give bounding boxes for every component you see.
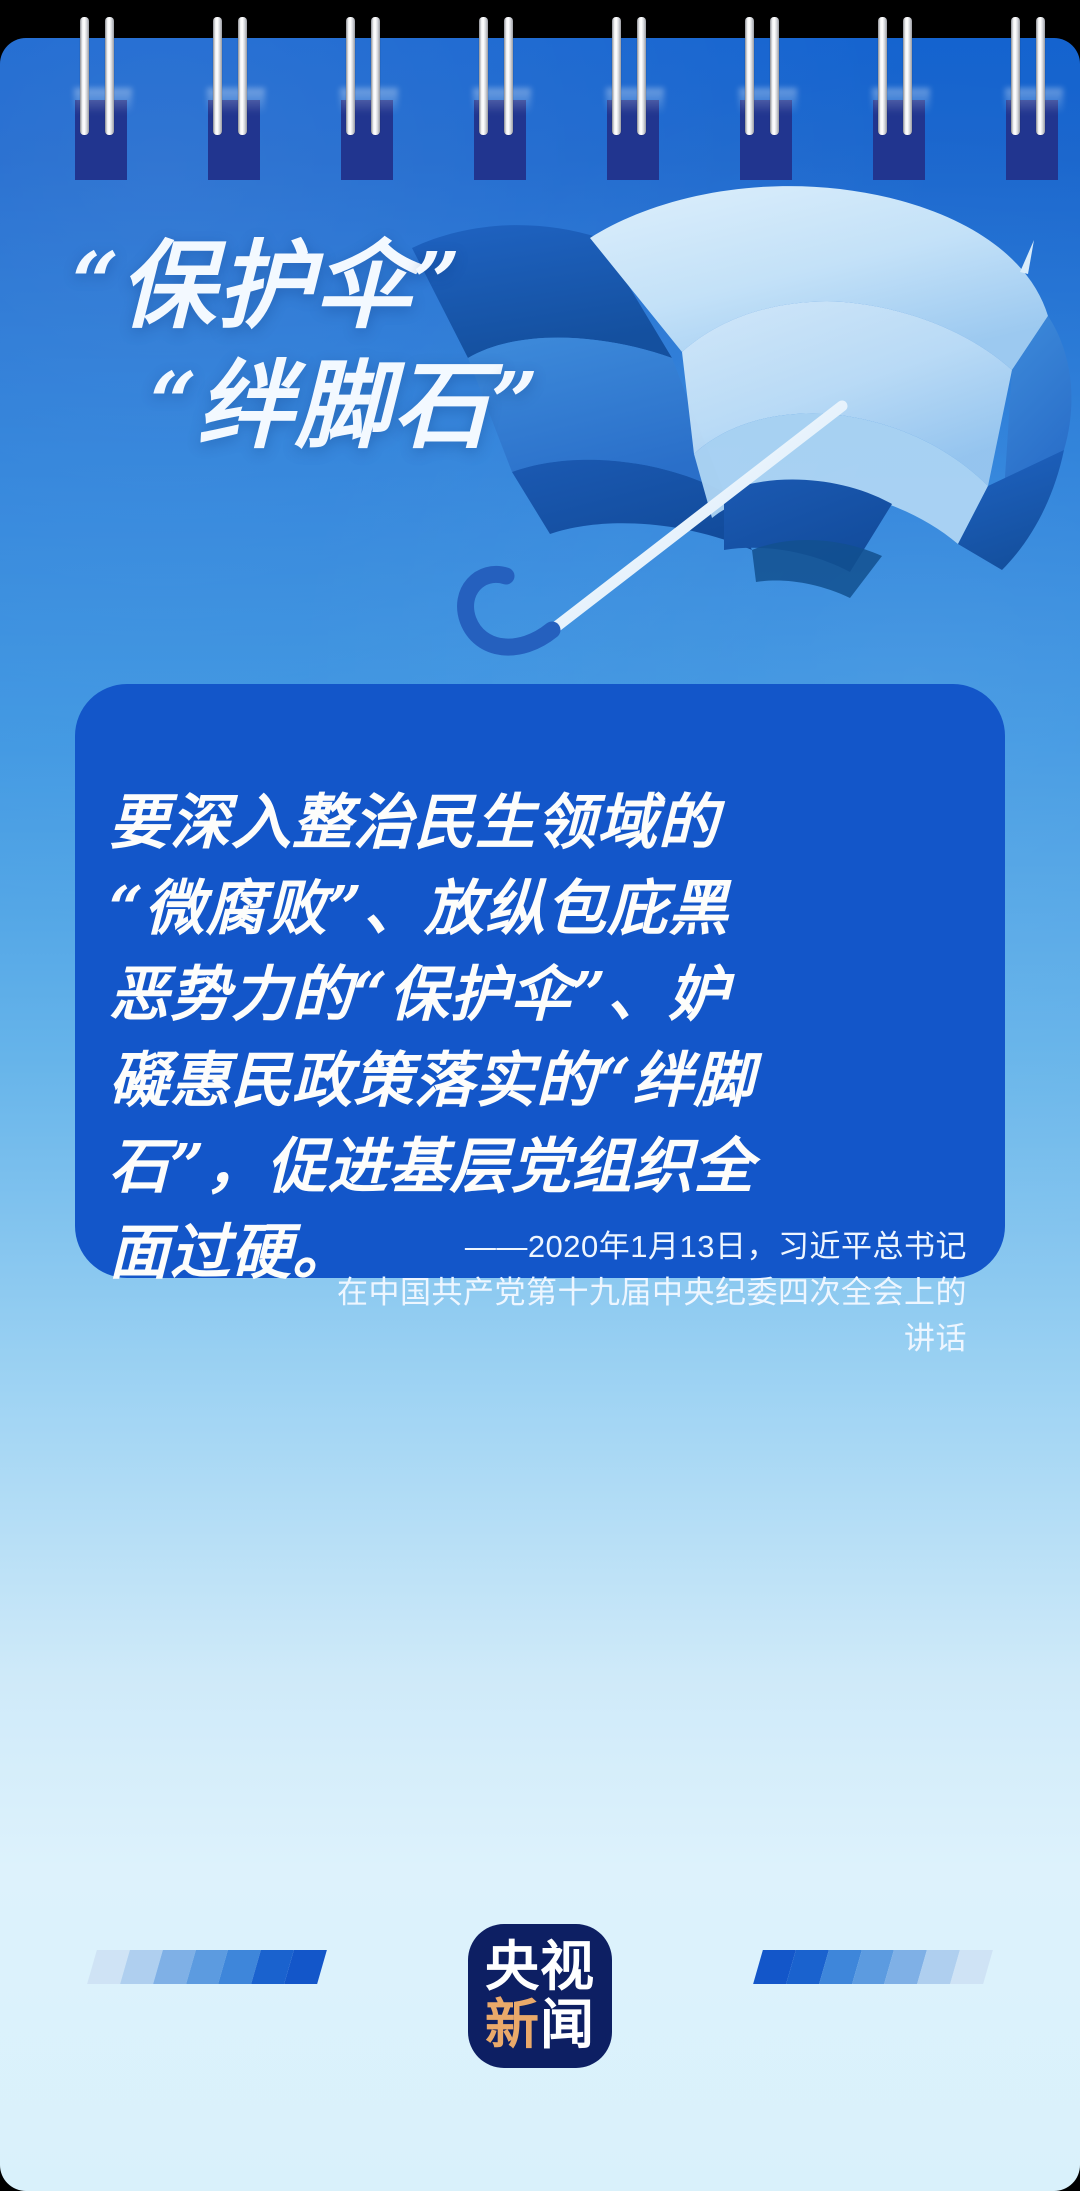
logo-row-bottom: 新闻 <box>485 1996 595 2054</box>
quote-line: 恶势力的“保护伞”、妒 <box>109 952 971 1038</box>
decor-bar-right <box>753 1950 993 1984</box>
logo-char-shi: 视 <box>540 1938 595 1996</box>
quote-attribution: ——2020年1月13日，习近平总书记 在中国共产党第十九届中央纪委四次全会上的… <box>109 1224 967 1362</box>
poster-root: “保护伞” “绊脚石” 要深入整治民生领域的 “微腐败”、放纵包庇黑 恶势力的“… <box>0 0 1080 2191</box>
logo-row-top: 央视 <box>485 1938 595 1996</box>
quote-text: 要深入整治民生领域的 “微腐败”、放纵包庇黑 恶势力的“保护伞”、妒 礙惠民政策… <box>109 780 971 1296</box>
quote-line: “微腐败”、放纵包庇黑 <box>109 866 971 952</box>
headline-open-quote-1: “ <box>72 235 119 331</box>
headline-line-2: “绊脚石” <box>0 352 1080 460</box>
decor-bar-left <box>87 1950 327 1984</box>
attribution-line: ——2020年1月13日，习近平总书记 <box>109 1224 967 1270</box>
logo-char-yang: 央 <box>485 1938 540 1996</box>
attribution-line: 在中国共产党第十九届中央纪委四次全会上的 <box>109 1270 967 1316</box>
logo-char-wen: 闻 <box>540 1996 595 2054</box>
headline-text-1: 保护伞 <box>119 229 413 342</box>
headline-line-1: “保护伞” <box>0 232 1080 340</box>
quote-line: 要深入整治民生领域的 <box>109 780 971 866</box>
quote-line: 礙惠民政策落实的“绊脚 <box>109 1038 971 1124</box>
quote-card: 要深入整治民生领域的 “微腐败”、放纵包庇黑 恶势力的“保护伞”、妒 礙惠民政策… <box>75 684 1005 1278</box>
attribution-line: 讲话 <box>109 1316 967 1362</box>
quote-line: 石”，促进基层党组织全 <box>109 1124 971 1210</box>
headline-close-quote-2: ” <box>491 354 538 450</box>
logo-char-xin: 新 <box>485 1996 540 2054</box>
headline-block: “保护伞” “绊脚石” <box>0 232 1080 459</box>
cctv-news-logo: 央视 新闻 <box>468 1924 612 2068</box>
headline-open-quote-2: “ <box>150 354 197 450</box>
headline-close-quote-1: ” <box>413 235 460 331</box>
footer-block: 央视 新闻 <box>0 1930 1080 2080</box>
headline-text-2: 绊脚石 <box>197 349 491 462</box>
